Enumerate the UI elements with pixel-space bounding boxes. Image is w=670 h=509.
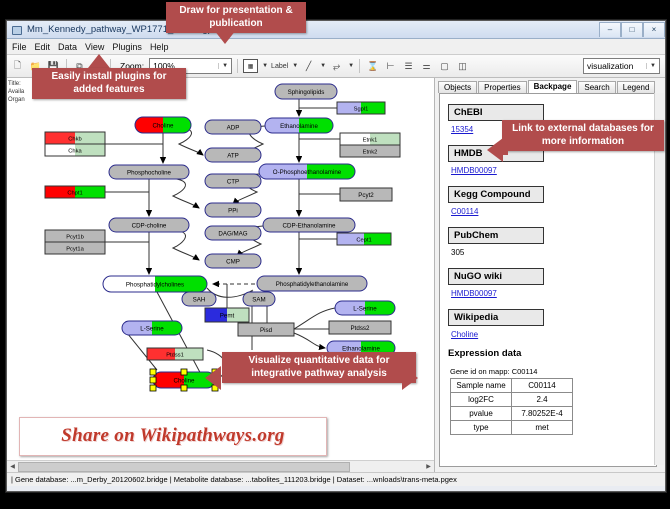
- pathway-node-label: Pcyt1b: [66, 235, 84, 241]
- pathway-diagram[interactable]: CholineSphingolipidsADPATPEthanolaminePh…: [7, 78, 434, 472]
- pathway-node-label: Pemt: [220, 313, 235, 320]
- tab-properties[interactable]: Properties: [478, 81, 526, 93]
- pathway-node-sphingolipids[interactable]: Sphingolipids: [275, 84, 337, 99]
- pathway-node-label: Ptdss1: [166, 353, 184, 359]
- pathway-node-dagmag[interactable]: DAG/MAG: [205, 226, 261, 240]
- info-organism-label: Organ: [8, 96, 25, 104]
- pathway-node-label: Chkb: [68, 137, 81, 143]
- callout-visualize-arrow-right: [402, 366, 418, 390]
- order-icon[interactable]: ▢: [437, 59, 452, 74]
- callout-plugins: Easily install plugins for added feature…: [32, 68, 186, 99]
- db-link-wikipedia[interactable]: Choline: [451, 330, 656, 339]
- callout-links-arrow-stem: [500, 145, 508, 155]
- pathway-node-label: Etnk1: [363, 138, 378, 144]
- pathway-node-ppi[interactable]: PPi: [205, 203, 261, 217]
- callout-draw: Draw for presentation & publication: [166, 2, 306, 33]
- pathway-node-adp[interactable]: ADP: [205, 120, 261, 134]
- pathway-node-label: Choline: [153, 123, 175, 130]
- db-link-kegg[interactable]: C00114: [451, 207, 656, 216]
- pathway-node-atp[interactable]: ATP: [205, 148, 261, 162]
- visualization-chevron-down-icon[interactable]: ▼: [646, 63, 659, 69]
- pathway-editor[interactable]: Title: Availa Organ: [7, 78, 435, 472]
- new-file-icon[interactable]: 🗋: [10, 59, 25, 74]
- pathway-node-chkb[interactable]: Chkb: [45, 132, 105, 144]
- pathway-node-label: ATP: [227, 153, 239, 160]
- db-header-pubchem: PubChem: [448, 227, 544, 244]
- expr-value-3: met: [512, 421, 573, 435]
- pathway-node-cmp[interactable]: CMP: [205, 254, 261, 268]
- table-row: typemet: [451, 421, 573, 435]
- pathway-node-o-phosphoethanolamine[interactable]: O-Phosphoethanolamine: [259, 164, 355, 179]
- data-node-icon[interactable]: ▦: [243, 59, 258, 73]
- distribute-icon[interactable]: ⚌: [419, 59, 434, 74]
- table-row: log2FC2.4: [451, 393, 573, 407]
- pathway-node-label: CMP: [226, 259, 240, 266]
- expr-value-2: 7.80252E-4: [512, 407, 573, 421]
- label-tool-label[interactable]: Label: [271, 63, 288, 70]
- pathway-node-l-serine-right[interactable]: L-Serine: [335, 301, 395, 315]
- interaction-icon[interactable]: ⥂: [329, 59, 344, 74]
- close-button[interactable]: ×: [643, 22, 665, 37]
- pathway-node-etnk2[interactable]: Etnk2: [340, 145, 400, 157]
- expr-name-3: type: [451, 421, 512, 435]
- pathway-node-chpt1[interactable]: Chpt1: [45, 186, 105, 198]
- pathway-node-label: DAG/MAG: [218, 231, 247, 238]
- selection-handle[interactable]: [181, 369, 187, 375]
- status-bar: | Gene database: ...m_Derby_20120602.bri…: [7, 472, 665, 486]
- menu-item-view[interactable]: View: [85, 42, 104, 52]
- pathway-node-label: Pcyt2: [358, 192, 374, 199]
- pathway-node-phosphocholine[interactable]: Phosphocholine: [109, 165, 189, 179]
- tab-objects[interactable]: Objects: [438, 81, 477, 93]
- menu-item-edit[interactable]: Edit: [35, 42, 51, 52]
- info-available-label: Availa: [8, 88, 25, 96]
- db-section: Wikipedia Choline: [448, 307, 656, 339]
- pathway-canvas[interactable]: CholineSphingolipidsADPATPEthanolaminePh…: [7, 78, 434, 472]
- pathway-nodes: CholineSphingolipidsADPATPEthanolaminePh…: [45, 84, 400, 391]
- title-bar: Mm_Kennedy_pathway_WP1771_45176.gpml – □…: [7, 21, 665, 39]
- db-header-chebi: ChEBI: [448, 104, 544, 121]
- pathway-node-label: Pcyt1a: [66, 247, 84, 253]
- pathway-node-label: Chka: [68, 149, 82, 155]
- pathway-node-pcyt1a[interactable]: Pcyt1a: [45, 242, 105, 254]
- tab-search[interactable]: Search: [578, 81, 615, 93]
- pathway-node-label: L-Serine: [140, 326, 164, 333]
- menu-bar: File Edit Data View Plugins Help: [7, 39, 665, 55]
- db-value-pubchem: 305: [451, 248, 656, 257]
- status-text: | Gene database: ...m_Derby_20120602.bri…: [11, 475, 457, 484]
- pathway-info-labels: Title: Availa Organ: [8, 80, 25, 104]
- callout-draw-arrow: [214, 30, 236, 44]
- pathway-node-l-serine-left[interactable]: L-Serine: [122, 321, 182, 335]
- db-header-nugo: NuGO wiki: [448, 268, 544, 285]
- visualization-combo[interactable]: visualization ▼: [583, 58, 660, 74]
- chevron-down-icon[interactable]: ▼: [218, 63, 231, 69]
- pathway-node-label: CTP: [227, 179, 239, 186]
- align-icon[interactable]: ⌛: [365, 59, 380, 74]
- selection-handle[interactable]: [181, 385, 187, 391]
- minimize-button[interactable]: –: [599, 22, 621, 37]
- side-panel-tabs: Objects Properties Backpage Search Legen…: [435, 78, 665, 93]
- pathway-node-label: Sgpl1: [354, 107, 369, 113]
- pathway-node-label: PPi: [228, 208, 238, 215]
- pathway-node-label: CDP-choline: [132, 223, 167, 230]
- expr-value-1: 2.4: [512, 393, 573, 407]
- pathway-node-pcyt2[interactable]: Pcyt2: [340, 188, 392, 201]
- expr-name-2: pvalue: [451, 407, 512, 421]
- pathway-node-sgpl1[interactable]: Sgpl1: [337, 102, 385, 114]
- visualization-value: visualization: [587, 61, 633, 71]
- pathway-node-sah[interactable]: SAH: [182, 292, 216, 306]
- pathway-node-label: SAM: [252, 297, 265, 304]
- stack-icon[interactable]: ☰: [401, 59, 416, 74]
- hscroll-thumb[interactable]: [18, 462, 350, 472]
- pathway-node-label: Sphingolipids: [288, 89, 325, 96]
- toolbar-separator-3: [237, 59, 238, 73]
- expr-name-0: Sample name: [451, 379, 512, 393]
- menu-item-help[interactable]: Help: [150, 42, 169, 52]
- expression-data-title: Expression data: [448, 348, 656, 359]
- menu-item-file[interactable]: File: [12, 42, 27, 52]
- pathway-node-label: Cept1: [356, 238, 371, 244]
- line-icon[interactable]: ╱: [301, 59, 316, 74]
- pathway-node-ethanolamine-top[interactable]: Ethanolamine: [265, 118, 333, 133]
- selection-handle[interactable]: [150, 377, 156, 383]
- db-section: Kegg Compound C00114: [448, 184, 656, 216]
- canvas-hscrollbar[interactable]: ◀ ▶: [7, 460, 434, 472]
- gene-id-line: Gene id on mapp: C00114: [450, 367, 656, 376]
- pathway-node-label: O-Phosphoethanolamine: [273, 169, 342, 176]
- callout-visualize-arrow-left: [205, 366, 221, 390]
- label-chevron-down-icon[interactable]: ▼: [292, 63, 298, 69]
- pathway-node-phosphatidylcholines[interactable]: Phosphatidylcholines: [103, 276, 207, 292]
- pathway-node-choline-top[interactable]: Choline: [135, 117, 191, 133]
- db-section: PubChem 305: [448, 225, 656, 257]
- pathway-node-label: Etnk2: [363, 150, 378, 156]
- pathway-node-label: SAH: [193, 297, 206, 304]
- pathway-node-label: Ethanolamine: [280, 123, 318, 130]
- pathway-node-label: Ptdss2: [351, 325, 370, 332]
- line-chevron-down-icon[interactable]: ▼: [320, 63, 326, 69]
- pathway-node-label: L-Serine: [353, 306, 377, 313]
- pathway-node-label: Phosphocholine: [127, 170, 172, 177]
- pathway-node-phosphatidylethanolamine[interactable]: Phosphatidylethanolamine: [257, 276, 367, 291]
- datanode-chevron-down-icon[interactable]: ▼: [262, 63, 268, 69]
- pathway-node-cdp-ethanolamine[interactable]: CDP-Ethanolamine: [263, 218, 355, 232]
- pathway-node-label: ADP: [227, 125, 240, 132]
- tab-legend[interactable]: Legend: [617, 81, 656, 93]
- pathway-node-label: Chpt1: [67, 191, 82, 197]
- pathway-node-ptdss1[interactable]: Ptdss1: [147, 348, 203, 360]
- pathway-node-cept1[interactable]: Cept1: [337, 233, 391, 245]
- interaction-chevron-down-icon[interactable]: ▼: [348, 63, 354, 69]
- app-icon: [11, 24, 22, 35]
- db-section: NuGO wiki HMDB00097: [448, 266, 656, 298]
- pathway-node-label: Choline: [174, 378, 196, 385]
- pathway-node-label: CDP-Ethanolamine: [283, 223, 337, 230]
- pathway-node-sam[interactable]: SAM: [243, 292, 275, 306]
- group-icon[interactable]: ⊢: [383, 59, 398, 74]
- menu-item-data[interactable]: Data: [58, 42, 77, 52]
- pathway-node-cdp-choline[interactable]: CDP-choline: [109, 218, 189, 232]
- callout-links: Link to external databases for more info…: [502, 120, 664, 151]
- pathway-node-pemt[interactable]: Pemt: [205, 308, 249, 322]
- pathway-node-label: Phosphatidylethanolamine: [276, 281, 349, 288]
- scroll-right-icon[interactable]: ▶: [423, 461, 434, 472]
- db-header-kegg: Kegg Compound: [448, 186, 544, 203]
- expression-table: Sample nameC00114 log2FC2.4 pvalue7.8025…: [450, 378, 573, 435]
- selection-handle[interactable]: [150, 369, 156, 375]
- table-row: pvalue7.80252E-4: [451, 407, 573, 421]
- window-controls: – □ ×: [599, 22, 665, 37]
- pathway-node-label: Phosphatidylcholines: [126, 282, 184, 289]
- maximize-button[interactable]: □: [621, 22, 643, 37]
- db-header-wikipedia: Wikipedia: [448, 309, 544, 326]
- table-row: Sample nameC00114: [451, 379, 573, 393]
- pathway-node-label: Pisd: [260, 327, 273, 334]
- tab-backpage[interactable]: Backpage: [528, 80, 578, 93]
- callout-visualize: Visualize quantitative data for integrat…: [222, 352, 416, 383]
- scroll-left-icon[interactable]: ◀: [7, 461, 18, 472]
- db-link-nugo[interactable]: HMDB00097: [451, 289, 656, 298]
- pathway-node-pisd[interactable]: Pisd: [238, 323, 294, 336]
- callout-share: Share on Wikipathways.org: [19, 417, 327, 456]
- info-title-label: Title:: [8, 80, 25, 88]
- selection-handle[interactable]: [150, 385, 156, 391]
- pathway-node-etnk1[interactable]: Etnk1: [340, 133, 400, 145]
- pathway-node-ptdss2[interactable]: Ptdss2: [329, 321, 391, 334]
- pathway-node-ctp[interactable]: CTP: [205, 174, 261, 188]
- expr-value-0: C00114: [512, 379, 573, 393]
- db-link-hmdb[interactable]: HMDB00097: [451, 166, 656, 175]
- menu-item-plugins[interactable]: Plugins: [112, 42, 142, 52]
- toolbar-separator-4: [359, 59, 360, 73]
- pathway-node-chka[interactable]: Chka: [45, 144, 105, 156]
- layer-icon[interactable]: ◫: [455, 59, 470, 74]
- expr-name-1: log2FC: [451, 393, 512, 407]
- pathway-node-pcyt1b[interactable]: Pcyt1b: [45, 230, 105, 242]
